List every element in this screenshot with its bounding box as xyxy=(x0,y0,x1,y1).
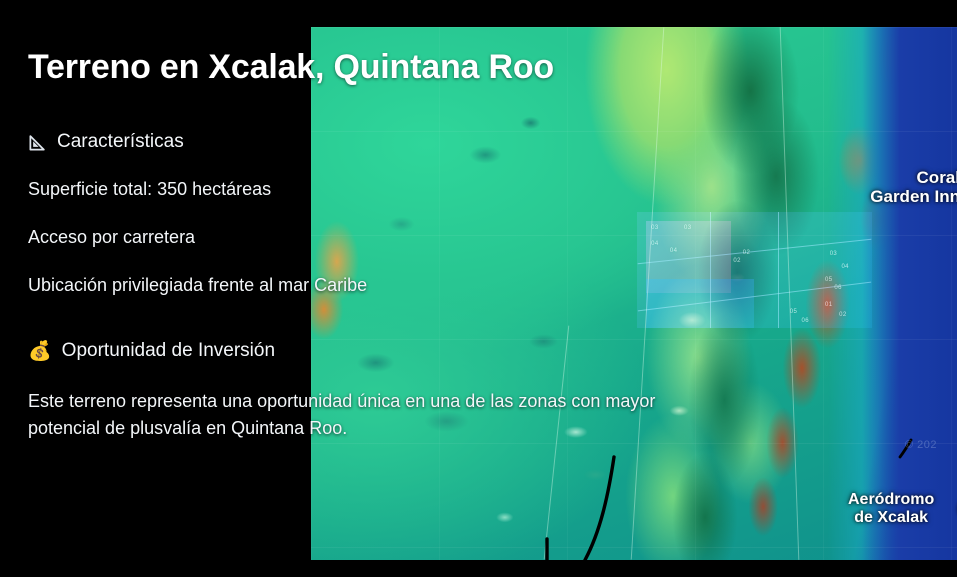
money-bag-icon: 💰 xyxy=(28,342,52,361)
parcel-label: 05 xyxy=(790,309,797,315)
slide-canvas: 03 03 04 04 02 02 03 04 05 06 05 06 01 0… xyxy=(0,0,957,577)
investment-heading: 💰 Oportunidad de Inversión xyxy=(28,340,760,362)
features-heading-label: Características xyxy=(57,131,184,153)
features-heading: Características xyxy=(28,131,760,153)
map-label-line: de Xcalak xyxy=(848,509,934,527)
map-label-line: Coral xyxy=(870,168,957,187)
list-item: Superficie total: 350 hectáreas xyxy=(28,179,760,200)
features-list: Superficie total: 350 hectáreas Acceso p… xyxy=(28,179,760,296)
map-label-aerodromo-de-xcalak: Aeródromo de Xcalak xyxy=(848,491,934,527)
map-label-coral-garden-inn: Coral Garden Inn xyxy=(870,168,957,206)
map-copyright-watermark: © 202 xyxy=(905,439,937,451)
map-label-line: Garden Inn xyxy=(870,187,957,206)
parcel-label: 03 xyxy=(830,251,837,257)
parcel-label: 02 xyxy=(839,312,846,318)
parcel-label: 04 xyxy=(841,264,848,270)
page-title: Terreno en Xcalak, Quintana Roo xyxy=(28,48,760,87)
triangular-ruler-icon xyxy=(28,133,47,152)
map-label-line: Aeródromo xyxy=(848,491,934,509)
investment-heading-label: Oportunidad de Inversión xyxy=(62,340,275,362)
parcel-label: 06 xyxy=(802,318,809,324)
parcel-label: 05 xyxy=(825,277,832,283)
parcel-label: 01 xyxy=(825,302,832,308)
slide-content: Terreno en Xcalak, Quintana Roo Caracter… xyxy=(0,0,760,577)
list-item: Acceso por carretera xyxy=(28,227,760,248)
list-item: Ubicación privilegiada frente al mar Car… xyxy=(28,275,760,296)
investment-paragraph: Este terreno representa una oportunidad … xyxy=(28,388,698,443)
parcel-label: 06 xyxy=(834,285,841,291)
